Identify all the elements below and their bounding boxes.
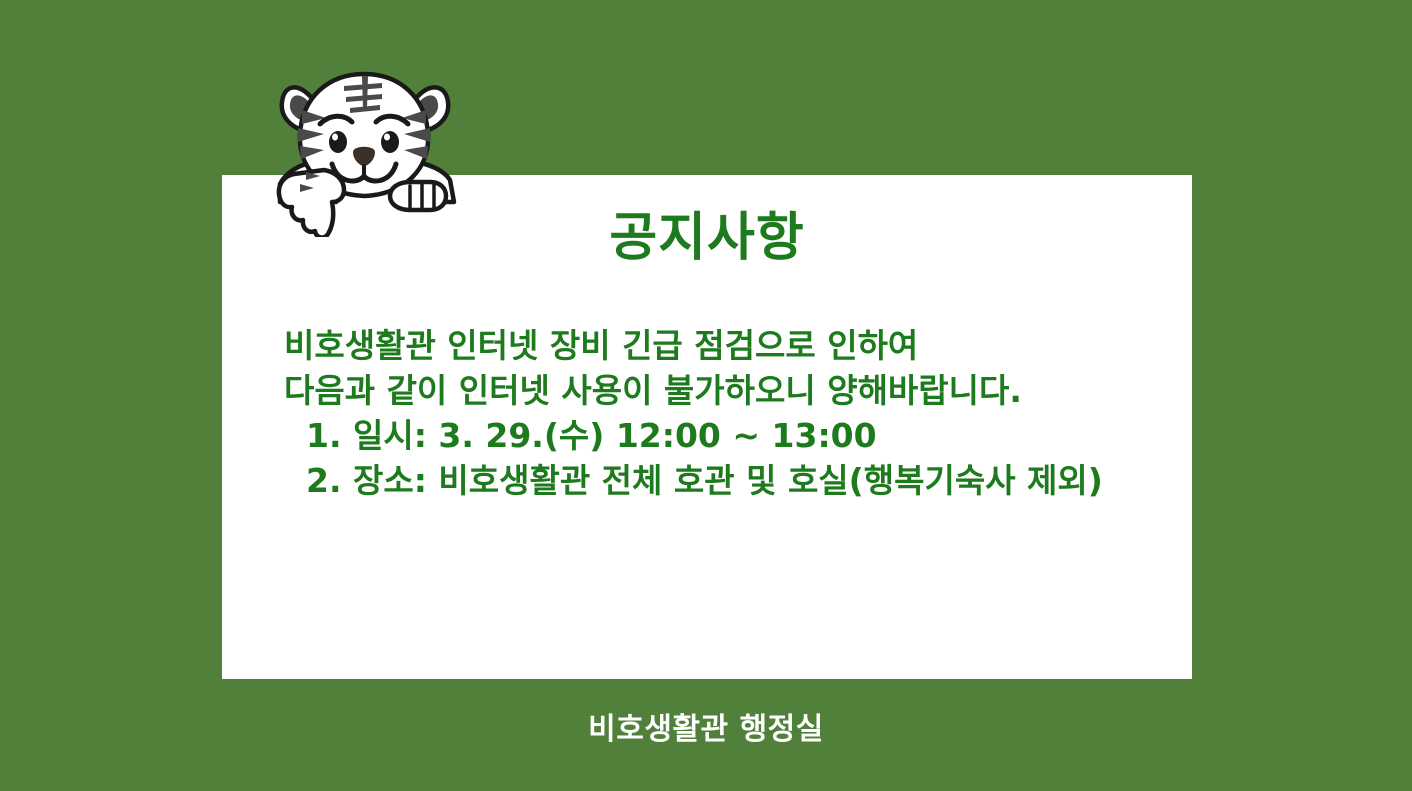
footer-text: 비호생활관 행정실 <box>0 704 1412 748</box>
body-line-2: 다음과 같이 인터넷 사용이 불가하오니 양해바랍니다. <box>284 368 1172 413</box>
body-line-item-2: 2. 장소: 비호생활관 전체 호관 및 호실(행복기숙사 제외) <box>284 458 1172 503</box>
body-line-1: 비호생활관 인터넷 장비 긴급 점검으로 인하여 <box>284 323 1172 368</box>
announcement-body: 비호생활관 인터넷 장비 긴급 점검으로 인하여 다음과 같이 인터넷 사용이 … <box>284 323 1172 503</box>
announcement-card: 공지사항 비호생활관 인터넷 장비 긴급 점검으로 인하여 다음과 같이 인터넷… <box>222 175 1192 679</box>
page-title: 공지사항 <box>222 211 1192 266</box>
body-line-item-1: 1. 일시: 3. 29.(수) 12:00 ~ 13:00 <box>284 413 1172 458</box>
announcement-poster: 공지사항 비호생활관 인터넷 장비 긴급 점검으로 인하여 다음과 같이 인터넷… <box>0 0 1412 791</box>
